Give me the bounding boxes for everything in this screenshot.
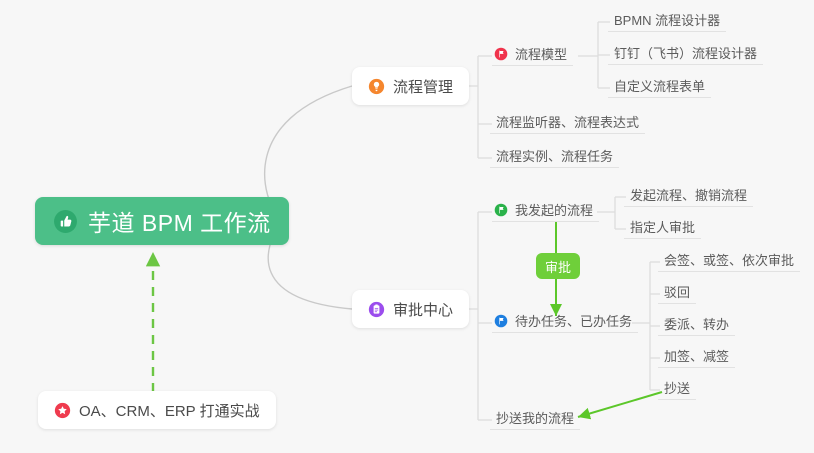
root-label: 芋道 BPM 工作流 (88, 204, 271, 238)
branch-label-approval-center: 审批中心 (393, 299, 453, 320)
star-icon (54, 402, 71, 419)
node-my-started-process[interactable]: 我发起的流程 (492, 200, 599, 222)
leaf-custom-process-form[interactable]: 自定义流程表单 (608, 76, 711, 98)
leaf-label-dingtalk-feishu-designer: 钉钉（飞书）流程设计器 (614, 47, 757, 60)
footer-node-oa-crm-erp[interactable]: OA、CRM、ERP 打通实战 (38, 391, 276, 429)
leaf-label-cc-to-me-process: 抄送我的流程 (496, 412, 574, 425)
leaf-cc[interactable]: 抄送 (658, 378, 696, 400)
leaf-cc-to-me-process[interactable]: 抄送我的流程 (490, 408, 580, 430)
leaf-label-custom-process-form: 自定义流程表单 (614, 80, 705, 93)
node-process-model[interactable]: 流程模型 (492, 44, 573, 66)
leaf-dingtalk-feishu-designer[interactable]: 钉钉（飞书）流程设计器 (608, 43, 763, 65)
branch-node-process-management[interactable]: 流程管理 (352, 67, 469, 105)
leaf-label-process-listener-expression: 流程监听器、流程表达式 (496, 116, 639, 129)
tag-approval[interactable]: 审批 (536, 253, 580, 279)
mindmap-canvas: 芋道 BPM 工作流 流程管理 流程模型 BPMN 流程设计器 钉钉（飞书）流程… (0, 0, 814, 453)
leaf-process-instance-task[interactable]: 流程实例、流程任务 (490, 146, 619, 168)
leaf-label-delegate-transfer: 委派、转办 (664, 318, 729, 331)
root-node[interactable]: 芋道 BPM 工作流 (35, 197, 289, 245)
leaf-label-reject: 驳回 (664, 286, 690, 299)
flag-icon (494, 47, 508, 61)
flag-icon (494, 203, 508, 217)
leaf-label-process-instance-task: 流程实例、流程任务 (496, 150, 613, 163)
node-label-todo-done-tasks: 待办任务、已办任务 (515, 315, 632, 328)
leaf-add-remove-sign[interactable]: 加签、减签 (658, 346, 735, 368)
leaf-label-bpmn-designer: BPMN 流程设计器 (614, 14, 720, 27)
annotation-arrow-cc (578, 392, 662, 417)
leaf-delegate-transfer[interactable]: 委派、转办 (658, 314, 735, 336)
flag-icon (494, 314, 508, 328)
leaf-label-assignee-approval: 指定人审批 (630, 221, 695, 234)
clipboard-icon (368, 301, 385, 318)
leaf-reject[interactable]: 驳回 (658, 282, 696, 304)
node-label-my-started-process: 我发起的流程 (515, 204, 593, 217)
branch-node-approval-center[interactable]: 审批中心 (352, 290, 469, 328)
leaf-label-cc: 抄送 (664, 382, 690, 395)
leaf-label-countersign: 会签、或签、依次审批 (664, 254, 794, 267)
footer-label-oa-crm-erp: OA、CRM、ERP 打通实战 (79, 400, 260, 421)
leaf-label-start-cancel-process: 发起流程、撤销流程 (630, 189, 747, 202)
leaf-bpmn-designer[interactable]: BPMN 流程设计器 (608, 10, 726, 32)
thumbs-up-icon (53, 209, 78, 234)
branch-label-process-management: 流程管理 (393, 76, 453, 97)
node-todo-done-tasks[interactable]: 待办任务、已办任务 (492, 311, 638, 333)
node-label-process-model: 流程模型 (515, 48, 567, 61)
leaf-countersign[interactable]: 会签、或签、依次审批 (658, 250, 800, 272)
leaf-start-cancel-process[interactable]: 发起流程、撤销流程 (624, 185, 753, 207)
leaf-label-add-remove-sign: 加签、减签 (664, 350, 729, 363)
tag-label-approval: 审批 (545, 257, 571, 276)
leaf-process-listener-expression[interactable]: 流程监听器、流程表达式 (490, 112, 645, 134)
leaf-assignee-approval[interactable]: 指定人审批 (624, 217, 701, 239)
lightbulb-pin-icon (368, 78, 385, 95)
